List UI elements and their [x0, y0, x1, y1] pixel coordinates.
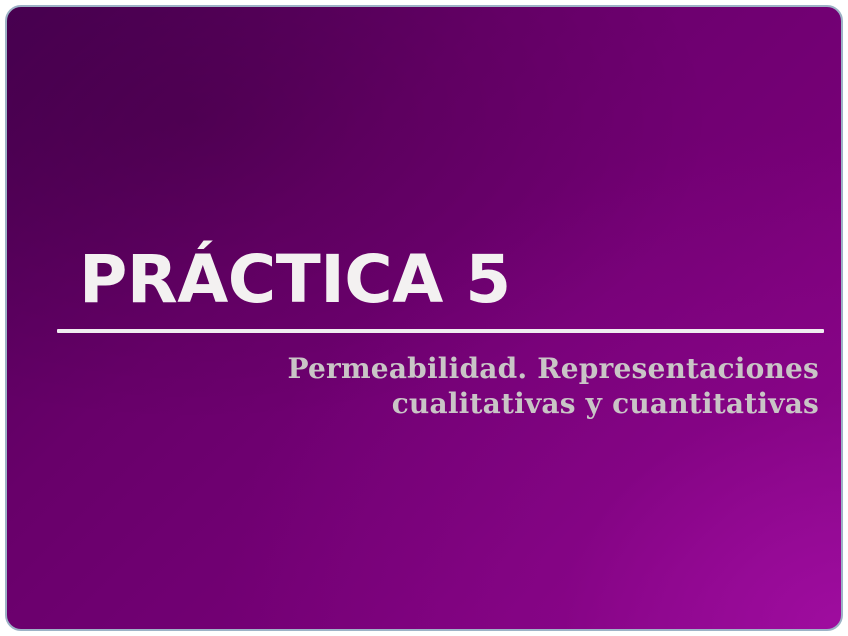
slide-subtitle-line-2: cualitativas y cuantitativas [67, 386, 819, 421]
slide-subtitle: Permeabilidad. Representaciones cualitat… [67, 351, 819, 421]
slide-title: PRÁCTICA 5 [79, 245, 511, 315]
title-block: PRÁCTICA 5 Permeabilidad. Representacion… [7, 7, 841, 629]
slide-viewport: PRÁCTICA 5 Permeabilidad. Representacion… [0, 0, 848, 636]
presentation-slide[interactable]: PRÁCTICA 5 Permeabilidad. Representacion… [5, 5, 843, 631]
slide-subtitle-line-1: Permeabilidad. Representaciones [67, 351, 819, 386]
title-divider-rule [57, 329, 824, 333]
